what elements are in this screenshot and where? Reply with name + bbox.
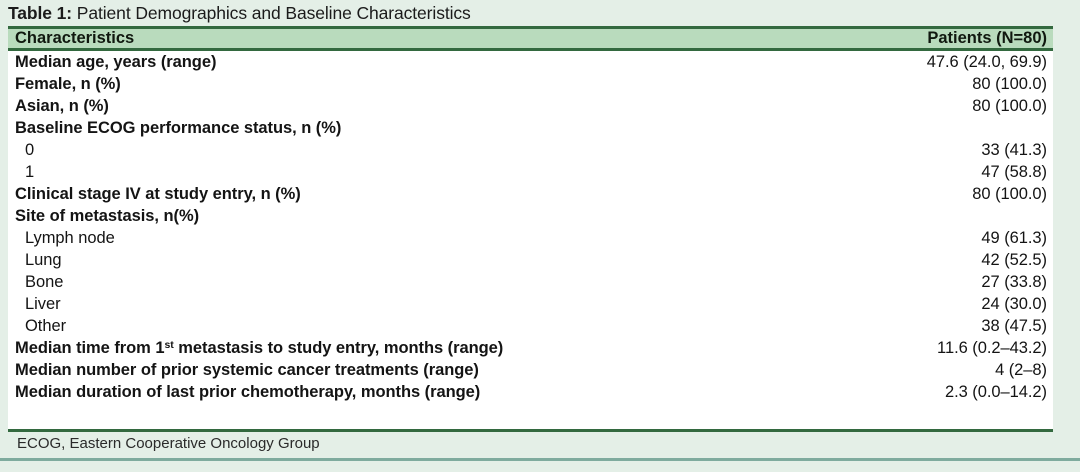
row-value: 38 (47.5) (981, 315, 1047, 337)
row-value: 11.6 (0.2–43.2) (937, 337, 1047, 359)
row-value: 27 (33.8) (981, 271, 1047, 293)
row-label: Bone (25, 271, 63, 293)
row-value: 47 (58.8) (981, 161, 1047, 183)
table-row: Median age, years (range)47.6 (24.0, 69.… (8, 51, 1053, 73)
row-value: 42 (52.5) (981, 249, 1047, 271)
row-label: Liver (25, 293, 61, 315)
table-row: 147 (58.8) (8, 161, 1053, 183)
table-caption: Table 1: Patient Demographics and Baseli… (8, 2, 1053, 26)
table-row: Asian, n (%)80 (100.0) (8, 95, 1053, 117)
table-row: Baseline ECOG performance status, n (%) (8, 117, 1053, 139)
table-row: Other38 (47.5) (8, 315, 1053, 337)
table-row: Female, n (%)80 (100.0) (8, 73, 1053, 95)
row-label: Lymph node (25, 227, 115, 249)
data-table: Characteristics Patients (N=80) Median a… (8, 26, 1053, 432)
table-row: Median time from 1st metastasis to study… (8, 337, 1053, 359)
row-value: 2.3 (0.0–14.2) (945, 381, 1047, 403)
table-footnote-text: ECOG, Eastern Cooperative Oncology Group (8, 435, 320, 452)
row-value: 33 (41.3) (981, 139, 1047, 161)
row-label: 0 (25, 139, 34, 161)
table-rows: Median age, years (range)47.6 (24.0, 69.… (8, 51, 1053, 403)
table-caption-label: Table 1: (8, 3, 72, 23)
table-row: Liver24 (30.0) (8, 293, 1053, 315)
table-bottom-rule (8, 429, 1053, 432)
row-label: Median age, years (range) (15, 51, 216, 73)
table-row: Clinical stage IV at study entry, n (%)8… (8, 183, 1053, 205)
table-row: Lymph node49 (61.3) (8, 227, 1053, 249)
row-label: Baseline ECOG performance status, n (%) (15, 117, 341, 139)
table-row: Median number of prior systemic cancer t… (8, 359, 1053, 381)
column-header-patients: Patients (N=80) (927, 29, 1047, 48)
row-value: 80 (100.0) (972, 183, 1047, 205)
row-value: 24 (30.0) (981, 293, 1047, 315)
row-label: Site of metastasis, n(%) (15, 205, 199, 227)
row-value: 80 (100.0) (972, 95, 1047, 117)
table-footnote: ECOG, Eastern Cooperative Oncology Group (8, 433, 1053, 455)
row-label: Lung (25, 249, 62, 271)
table-row: Lung42 (52.5) (8, 249, 1053, 271)
table-row: Site of metastasis, n(%) (8, 205, 1053, 227)
row-label: Female, n (%) (15, 73, 121, 95)
row-value: 80 (100.0) (972, 73, 1047, 95)
table-row: 033 (41.3) (8, 139, 1053, 161)
table-row: Median duration of last prior chemothera… (8, 381, 1053, 403)
table-figure: Table 1: Patient Demographics and Baseli… (0, 0, 1080, 472)
table-row: Bone27 (33.8) (8, 271, 1053, 293)
row-label: Other (25, 315, 66, 337)
row-value: 4 (2–8) (995, 359, 1047, 381)
page-divider-rule (0, 458, 1080, 461)
row-value: 47.6 (24.0, 69.9) (927, 51, 1047, 73)
row-label: Median duration of last prior chemothera… (15, 381, 480, 403)
row-label: Clinical stage IV at study entry, n (%) (15, 183, 301, 205)
row-label: Asian, n (%) (15, 95, 109, 117)
row-label: Median number of prior systemic cancer t… (15, 359, 479, 381)
column-header-characteristics: Characteristics (15, 29, 134, 48)
row-label: Median time from 1st metastasis to study… (15, 337, 503, 359)
row-label: 1 (25, 161, 34, 183)
table-header-band (8, 29, 1053, 48)
table-caption-text: Patient Demographics and Baseline Charac… (72, 3, 471, 23)
row-value: 49 (61.3) (981, 227, 1047, 249)
